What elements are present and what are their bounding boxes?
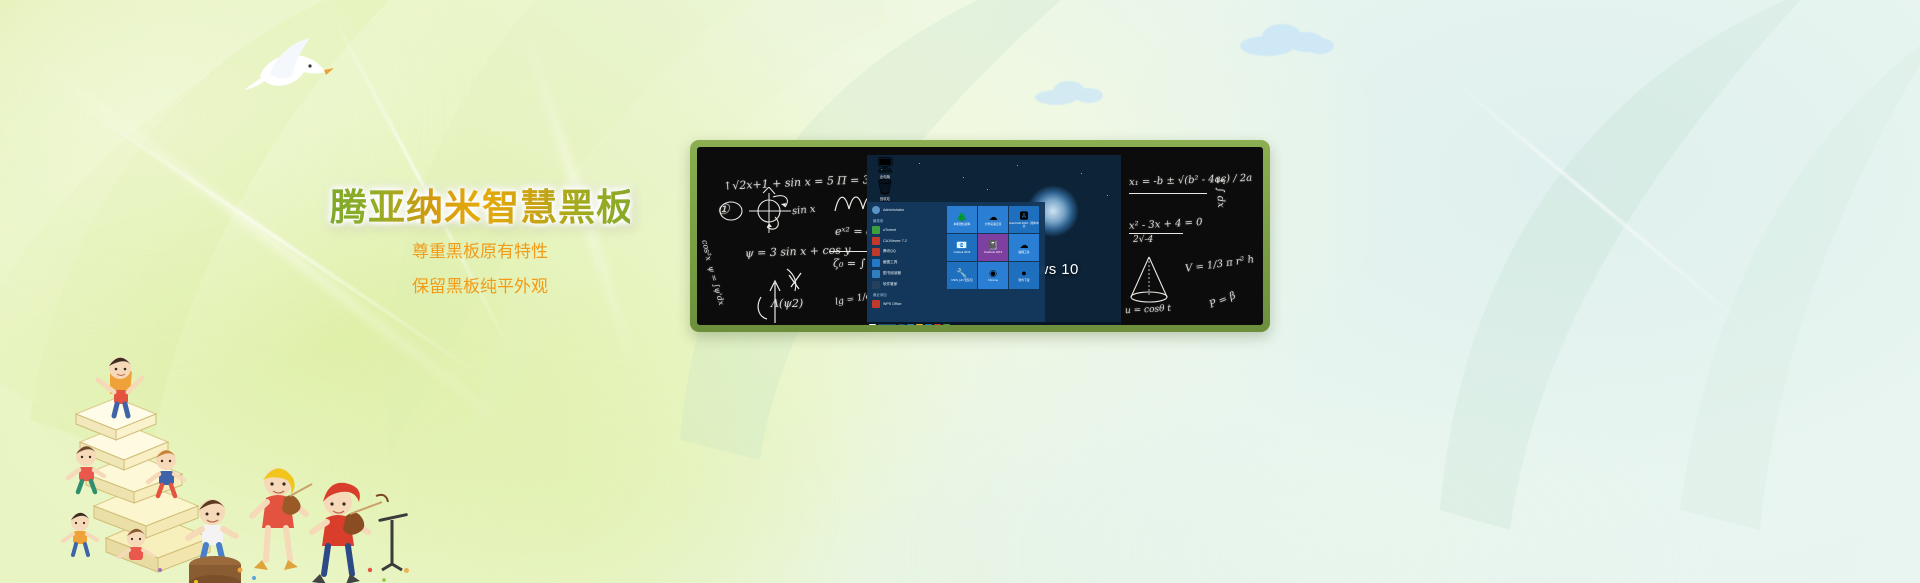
headline-block: 腾亚纳米智慧黑板 <box>330 186 630 230</box>
taskbar[interactable]: ∧ ♪ 📶 17:20 <box>867 322 1121 325</box>
recycle-bin-icon: 🗑 <box>870 180 900 196</box>
start-tile[interactable]: 📧Outlook 2013 <box>947 234 977 261</box>
desktop-icon-computer[interactable]: 🖥 此电脑 <box>870 158 900 180</box>
leaf-shape-far-right <box>1380 0 1920 530</box>
chalk-sum-integral: Σ ∫ dx <box>1214 177 1226 208</box>
avatar <box>872 206 880 214</box>
chalk-volume-formula: V = 1/3 π r² h <box>1185 254 1255 275</box>
chalk-formula-6: ψ = ∫ψ'dx <box>706 265 726 306</box>
chalk-radical: 2√-4 <box>1133 235 1153 245</box>
decor-dot <box>404 568 409 573</box>
start-tile[interactable]: ●软件下载 <box>1009 262 1039 289</box>
start-section-title-recent: 最近添加 <box>867 290 1045 298</box>
start-tile[interactable]: 🅰AutoCAD 2016 - 简体中文 <box>1009 206 1039 233</box>
desktop-icon-recycle-bin[interactable]: 🗑 回收站 <box>870 180 900 202</box>
chalk-formula-5: cos²x <box>700 239 713 262</box>
smart-blackboard-device: ↑√2x+1 + sin x = 5 ① sin x ψ = 3 sin x +… <box>690 140 1270 332</box>
chalk-p-formula: P = β <box>1208 290 1237 310</box>
banner-stage: 腾亚纳米智慧黑板 尊重黑板原有特性 保留黑板纯平外观 ↑√2x+1 + sin … <box>0 0 1920 583</box>
chalk-cone-diagram <box>1123 251 1189 309</box>
task-view-icon[interactable] <box>898 324 905 325</box>
cloud-icon: ☁ <box>1020 240 1029 250</box>
app-icon[interactable] <box>934 324 941 325</box>
children-illustration <box>40 270 420 583</box>
subtitle-line-2: 保留黑板纯平外观 <box>412 277 548 297</box>
app-icon <box>872 248 880 256</box>
start-tile[interactable]: 🔧NSIS_HD 安装包 <box>947 262 977 289</box>
book-stack <box>76 398 210 572</box>
start-button-icon[interactable] <box>869 324 876 325</box>
dove-icon <box>240 30 336 100</box>
explorer-icon[interactable] <box>916 324 923 325</box>
edge-icon[interactable] <box>907 324 914 325</box>
chrome-icon: ◉ <box>989 268 997 278</box>
start-tile[interactable]: ◉Chrome <box>978 262 1008 289</box>
chalk-fraction-bar-right <box>1129 193 1207 194</box>
blackboard-screen: ↑√2x+1 + sin x = 5 ① sin x ψ = 3 sin x +… <box>697 147 1263 325</box>
start-menu-username: Administrator <box>883 208 904 212</box>
start-tile[interactable]: ☁大学英语记录 <box>978 206 1008 233</box>
autocad-icon: 🅰 <box>1019 211 1028 221</box>
taskbar-left[interactable] <box>867 324 950 325</box>
chalk-arrow-group <box>749 267 819 325</box>
windows-desktop[interactable]: 🖥 此电脑 🗑 回收站 Windows 10 Administrator 最常用 <box>867 155 1121 325</box>
start-menu-tiles[interactable]: 🌲本机微信资料 ☁大学英语记录 🅰AutoCAD 2016 - 简体中文 📧Ou… <box>947 206 1043 289</box>
kid-violinist-girl <box>252 468 312 570</box>
start-tile[interactable]: 📓OneNote 2013 <box>978 234 1008 261</box>
start-app-item[interactable]: WPS Office <box>872 298 1045 309</box>
outlook-icon: 📧 <box>956 240 967 250</box>
start-app-list-recent[interactable]: WPS Office <box>867 298 1045 309</box>
wrench-icon: 🔧 <box>956 268 967 278</box>
cloud-icon: ☁ <box>989 212 998 222</box>
chalk-equation: x² - 3x + 4 = 0 <box>1129 217 1203 232</box>
app-icon <box>872 259 880 267</box>
kid-lower-left <box>63 513 97 555</box>
music-stand <box>378 513 408 570</box>
computer-icon: 🖥 <box>870 158 900 174</box>
app-icon <box>872 281 880 289</box>
page-title: 腾亚纳米智慧黑板 <box>330 186 630 230</box>
search-icon[interactable] <box>878 324 896 325</box>
app-icon <box>872 237 880 245</box>
subtitle-line-1-wrap: 尊重黑板原有特性 <box>330 242 630 262</box>
download-icon: ● <box>1021 268 1026 278</box>
start-tile[interactable]: 🌲本机微信资料 <box>947 206 977 233</box>
subtitle-line-1: 尊重黑板原有特性 <box>412 242 548 262</box>
tree-icon: 🌲 <box>956 212 967 222</box>
store-icon[interactable] <box>925 324 932 325</box>
app-icon <box>872 270 880 278</box>
chalk-fraction-bar-right-2 <box>1129 233 1183 234</box>
app-icon <box>872 226 880 234</box>
app-icon[interactable] <box>943 324 950 325</box>
onenote-icon: 📓 <box>987 240 998 250</box>
chalk-quadratic-formula: x₁ = -b ± √(b² - 4ac) / 2a <box>1129 173 1253 188</box>
chalk-u-formula: u = cosθ t <box>1125 304 1172 316</box>
start-tile[interactable]: ☁编程工具 <box>1009 234 1039 261</box>
app-icon <box>872 300 880 308</box>
start-menu[interactable]: Administrator 最常用 uTorrent CAJViewer 7.2… <box>867 202 1045 324</box>
kid-violinist-red <box>312 483 388 583</box>
